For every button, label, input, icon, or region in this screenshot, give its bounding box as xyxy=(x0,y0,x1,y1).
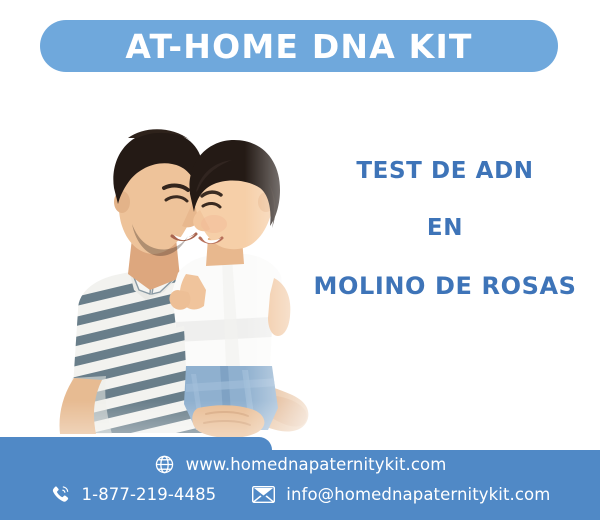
website-label[interactable]: www.homednapaternitykit.com xyxy=(186,455,447,474)
email-contact[interactable]: info@homednapaternitykit.com xyxy=(252,483,550,506)
phone-contact[interactable]: 1-877-219-4485 xyxy=(50,484,217,505)
footer-contact-row: 1-877-219-4485 info@homednapaternitykit.… xyxy=(0,483,600,506)
headline-line-3: MOLINO DE ROSAS xyxy=(300,274,590,298)
envelope-icon xyxy=(252,483,275,506)
phone-label[interactable]: 1-877-219-4485 xyxy=(82,485,217,504)
email-label[interactable]: info@homednapaternitykit.com xyxy=(286,485,550,504)
header-title: AT-HOME DNA KIT xyxy=(125,30,472,63)
header-banner: AT-HOME DNA KIT xyxy=(40,20,558,72)
headline-line-1: TEST DE ADN xyxy=(300,160,590,183)
promo-banner-canvas: AT-HOME DNA KIT xyxy=(0,0,600,520)
globe-icon xyxy=(154,454,175,475)
headline-block: TEST DE ADN EN MOLINO DE ROSAS xyxy=(300,160,590,298)
father-and-child-photo xyxy=(0,78,340,453)
footer-bar: www.homednapaternitykit.com 1-877-219-44… xyxy=(0,450,600,520)
headline-line-2: EN xyxy=(300,217,590,240)
phone-icon xyxy=(50,484,71,505)
father-and-child-illustration xyxy=(0,78,340,453)
footer-website-row: www.homednapaternitykit.com xyxy=(0,454,600,475)
